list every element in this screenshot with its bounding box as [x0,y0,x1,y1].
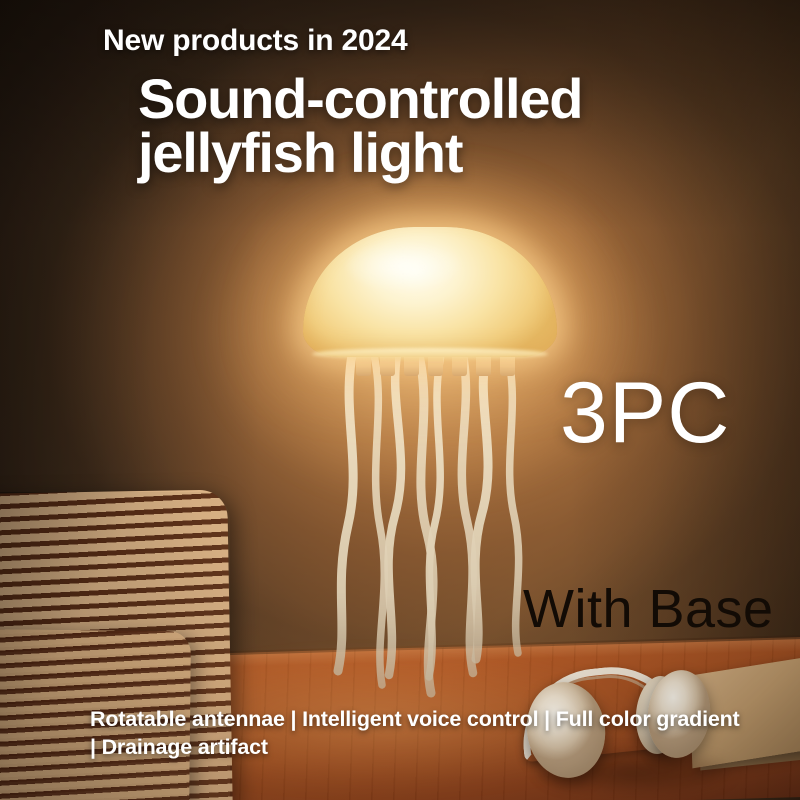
product-scene: New products in 2024 Sound-controlled je… [0,0,800,800]
with-base-badge: With Base [523,582,774,636]
page-title: Sound-controlled jellyfish light [138,72,582,181]
quantity-badge: 3PC [560,370,730,456]
kicker-text: New products in 2024 [103,24,407,58]
feature-list-text: Rotatable antennae | Intelligent voice c… [90,706,750,761]
